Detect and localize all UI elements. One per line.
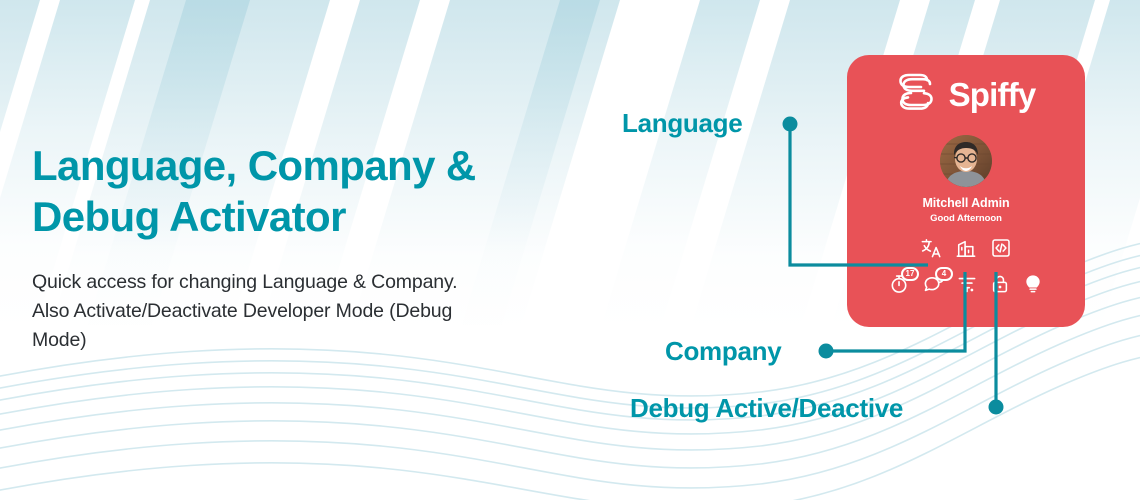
badge-count: 4 (935, 267, 953, 281)
callout-label-debug: Debug Active/Deactive (630, 393, 903, 424)
lock-icon[interactable] (990, 274, 1010, 299)
filter-settings-icon[interactable] (957, 274, 977, 299)
page-title: Language, Company & Debug Activator (32, 140, 552, 242)
chat-messages-icon[interactable]: 4 (923, 273, 944, 299)
avatar-container (847, 135, 1085, 187)
user-greeting: Good Afternoon (847, 213, 1085, 224)
user-name: Mitchell Admin (847, 196, 1085, 210)
debug-code-icon[interactable] (991, 238, 1011, 263)
badge-count: 17 (901, 267, 919, 281)
brand-logo: Spiffy (847, 72, 1085, 117)
connector-dot-debug (989, 400, 1004, 415)
connector-dot-company (819, 344, 834, 359)
translate-icon[interactable] (921, 238, 941, 263)
avatar[interactable] (940, 135, 992, 187)
primary-icon-row (847, 238, 1085, 263)
spiffy-user-card: Spiffy (847, 55, 1085, 327)
secondary-icon-row: 17 4 (847, 273, 1085, 299)
brand-name: Spiffy (949, 78, 1036, 111)
headline-line-1: Language, Company & (32, 142, 476, 189)
clock-activities-icon[interactable]: 17 (889, 273, 910, 299)
intro-text-block: Language, Company & Debug Activator Quic… (32, 140, 552, 354)
lightbulb-icon[interactable] (1023, 274, 1043, 299)
callout-label-company: Company (665, 336, 781, 367)
page-subtitle: Quick access for changing Language & Com… (32, 268, 492, 354)
connector-dot-language (783, 117, 798, 132)
headline-line-2: Debug Activator (32, 193, 346, 240)
spiffy-paperclip-logo-icon (897, 72, 941, 117)
callout-label-language: Language (622, 108, 742, 139)
company-building-icon[interactable] (956, 238, 976, 263)
